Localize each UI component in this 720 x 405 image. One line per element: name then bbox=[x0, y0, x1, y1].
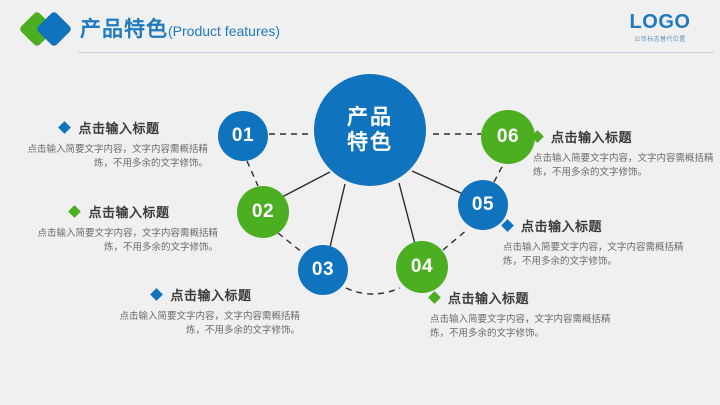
feature-05-title: 点击输入标题 bbox=[521, 216, 602, 235]
feature-03-body: 点击输入简要文字内容，文字内容需概括精炼，不用多余的文字修饰。 bbox=[104, 310, 300, 338]
feature-03-heading: 点击输入标题 bbox=[104, 285, 300, 304]
node-02[interactable]: 02 bbox=[237, 186, 289, 238]
feature-02-body: 点击输入简要文字内容，文字内容需概括精炼，不用多余的文字修饰。 bbox=[22, 227, 218, 255]
connector-center-03 bbox=[330, 184, 345, 247]
feature-02-heading: 点击输入标题 bbox=[22, 202, 218, 221]
feature-04[interactable]: 点击输入标题 点击输入简要文字内容，文字内容需概括精炼，不用多余的文字修饰。 bbox=[430, 288, 626, 341]
connector-center-02 bbox=[282, 172, 330, 197]
node-03[interactable]: 03 bbox=[298, 245, 348, 295]
feature-06-title: 点击输入标题 bbox=[551, 127, 632, 146]
connector-center-05 bbox=[412, 171, 463, 194]
connector-01-02 bbox=[247, 161, 258, 186]
node-04[interactable]: 04 bbox=[396, 241, 448, 293]
feature-06-body: 点击输入简要文字内容，文字内容需概括精炼，不用多余的文字修饰。 bbox=[533, 152, 720, 180]
center-node-label-line1: 产品 bbox=[347, 105, 393, 130]
connector-04-05 bbox=[443, 229, 468, 250]
feature-05-body: 点击输入简要文字内容，文字内容需概括精炼，不用多余的文字修饰。 bbox=[503, 241, 699, 269]
center-node-label-line2: 特色 bbox=[347, 130, 393, 155]
feature-03[interactable]: 点击输入标题 点击输入简要文字内容，文字内容需概括精炼，不用多余的文字修饰。 bbox=[104, 285, 300, 338]
node-05[interactable]: 05 bbox=[458, 180, 508, 230]
node-01[interactable]: 01 bbox=[218, 111, 268, 161]
diamond-bullet-icon bbox=[501, 219, 514, 232]
diamond-bullet-icon bbox=[531, 130, 544, 143]
connector-center-04 bbox=[399, 183, 415, 244]
feature-02[interactable]: 点击输入标题 点击输入简要文字内容，文字内容需概括精炼，不用多余的文字修饰。 bbox=[22, 202, 218, 255]
feature-01-heading: 点击输入标题 bbox=[12, 118, 208, 137]
connector-03-04 bbox=[346, 288, 400, 294]
feature-05[interactable]: 点击输入标题 点击输入简要文字内容，文字内容需概括精炼，不用多余的文字修饰。 bbox=[503, 216, 699, 269]
diamond-bullet-icon bbox=[151, 288, 164, 301]
feature-01-body: 点击输入简要文字内容，文字内容需概括精炼，不用多余的文字修饰。 bbox=[12, 143, 208, 171]
product-features-diagram: 产品 特色 01 02 03 04 05 06 点击输入标题 点击输入简要文字内… bbox=[0, 0, 720, 405]
feature-04-heading: 点击输入标题 bbox=[430, 288, 626, 307]
feature-06[interactable]: 点击输入标题 点击输入简要文字内容，文字内容需概括精炼，不用多余的文字修饰。 bbox=[533, 127, 720, 180]
feature-01-title: 点击输入标题 bbox=[78, 118, 159, 137]
diamond-bullet-icon bbox=[59, 121, 72, 134]
diamond-bullet-icon bbox=[428, 291, 441, 304]
node-06[interactable]: 06 bbox=[481, 110, 535, 164]
center-node[interactable]: 产品 特色 bbox=[314, 74, 426, 186]
feature-04-title: 点击输入标题 bbox=[448, 288, 529, 307]
feature-05-heading: 点击输入标题 bbox=[503, 216, 699, 235]
diamond-bullet-icon bbox=[69, 205, 82, 218]
feature-02-title: 点击输入标题 bbox=[88, 202, 169, 221]
feature-03-title: 点击输入标题 bbox=[170, 285, 251, 304]
feature-01[interactable]: 点击输入标题 点击输入简要文字内容，文字内容需概括精炼，不用多余的文字修饰。 bbox=[12, 118, 208, 171]
connector-02-03 bbox=[278, 233, 303, 253]
connector-05-06 bbox=[494, 163, 504, 182]
feature-04-body: 点击输入简要文字内容，文字内容需概括精炼，不用多余的文字修饰。 bbox=[430, 313, 626, 341]
feature-06-heading: 点击输入标题 bbox=[533, 127, 720, 146]
